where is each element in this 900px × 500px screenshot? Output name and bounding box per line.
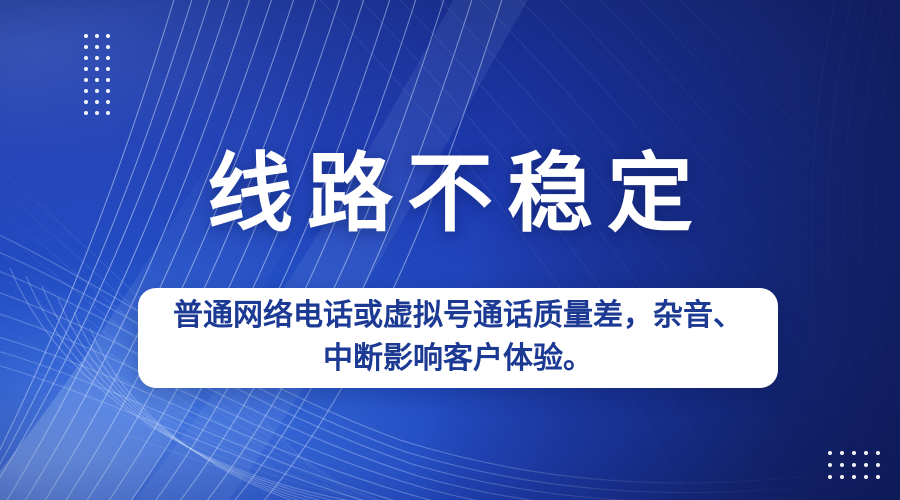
dot <box>864 451 868 455</box>
decorative-dot-grid-bottomright <box>828 451 888 487</box>
dot <box>828 475 832 479</box>
dot <box>106 111 110 115</box>
dot <box>95 89 99 93</box>
dot <box>84 67 88 71</box>
background-vignette <box>0 0 900 500</box>
dot <box>864 463 868 467</box>
dot <box>876 451 880 455</box>
dot <box>95 34 99 38</box>
dot <box>95 111 99 115</box>
dot <box>84 111 88 115</box>
dot <box>84 34 88 38</box>
dot <box>84 45 88 49</box>
dot <box>840 463 844 467</box>
dot <box>828 451 832 455</box>
dot <box>106 89 110 93</box>
dot <box>828 463 832 467</box>
dot <box>106 78 110 82</box>
dot <box>95 56 99 60</box>
dot <box>840 451 844 455</box>
dot <box>840 475 844 479</box>
dot <box>864 475 868 479</box>
dot <box>95 45 99 49</box>
banner-title: 线路不稳定 <box>0 148 900 241</box>
dot <box>106 56 110 60</box>
decorative-dot-grid-topleft <box>84 34 117 122</box>
dot <box>95 78 99 82</box>
dot <box>106 100 110 104</box>
dot <box>852 463 856 467</box>
dot <box>95 100 99 104</box>
dot <box>84 89 88 93</box>
dot <box>876 475 880 479</box>
dot <box>84 56 88 60</box>
dot <box>852 451 856 455</box>
dot <box>84 78 88 82</box>
dot <box>852 475 856 479</box>
dot <box>95 67 99 71</box>
dot <box>106 45 110 49</box>
dot <box>106 67 110 71</box>
banner-subtitle-text: 普通网络电话或虚拟号通话质量差，杂音、中断影响客户体验。 <box>172 295 744 380</box>
dot <box>106 34 110 38</box>
dot <box>84 100 88 104</box>
banner-subtitle-card: 普通网络电话或虚拟号通话质量差，杂音、中断影响客户体验。 <box>138 288 778 388</box>
dot <box>876 463 880 467</box>
promo-banner: 线路不稳定 普通网络电话或虚拟号通话质量差，杂音、中断影响客户体验。 <box>0 0 900 500</box>
